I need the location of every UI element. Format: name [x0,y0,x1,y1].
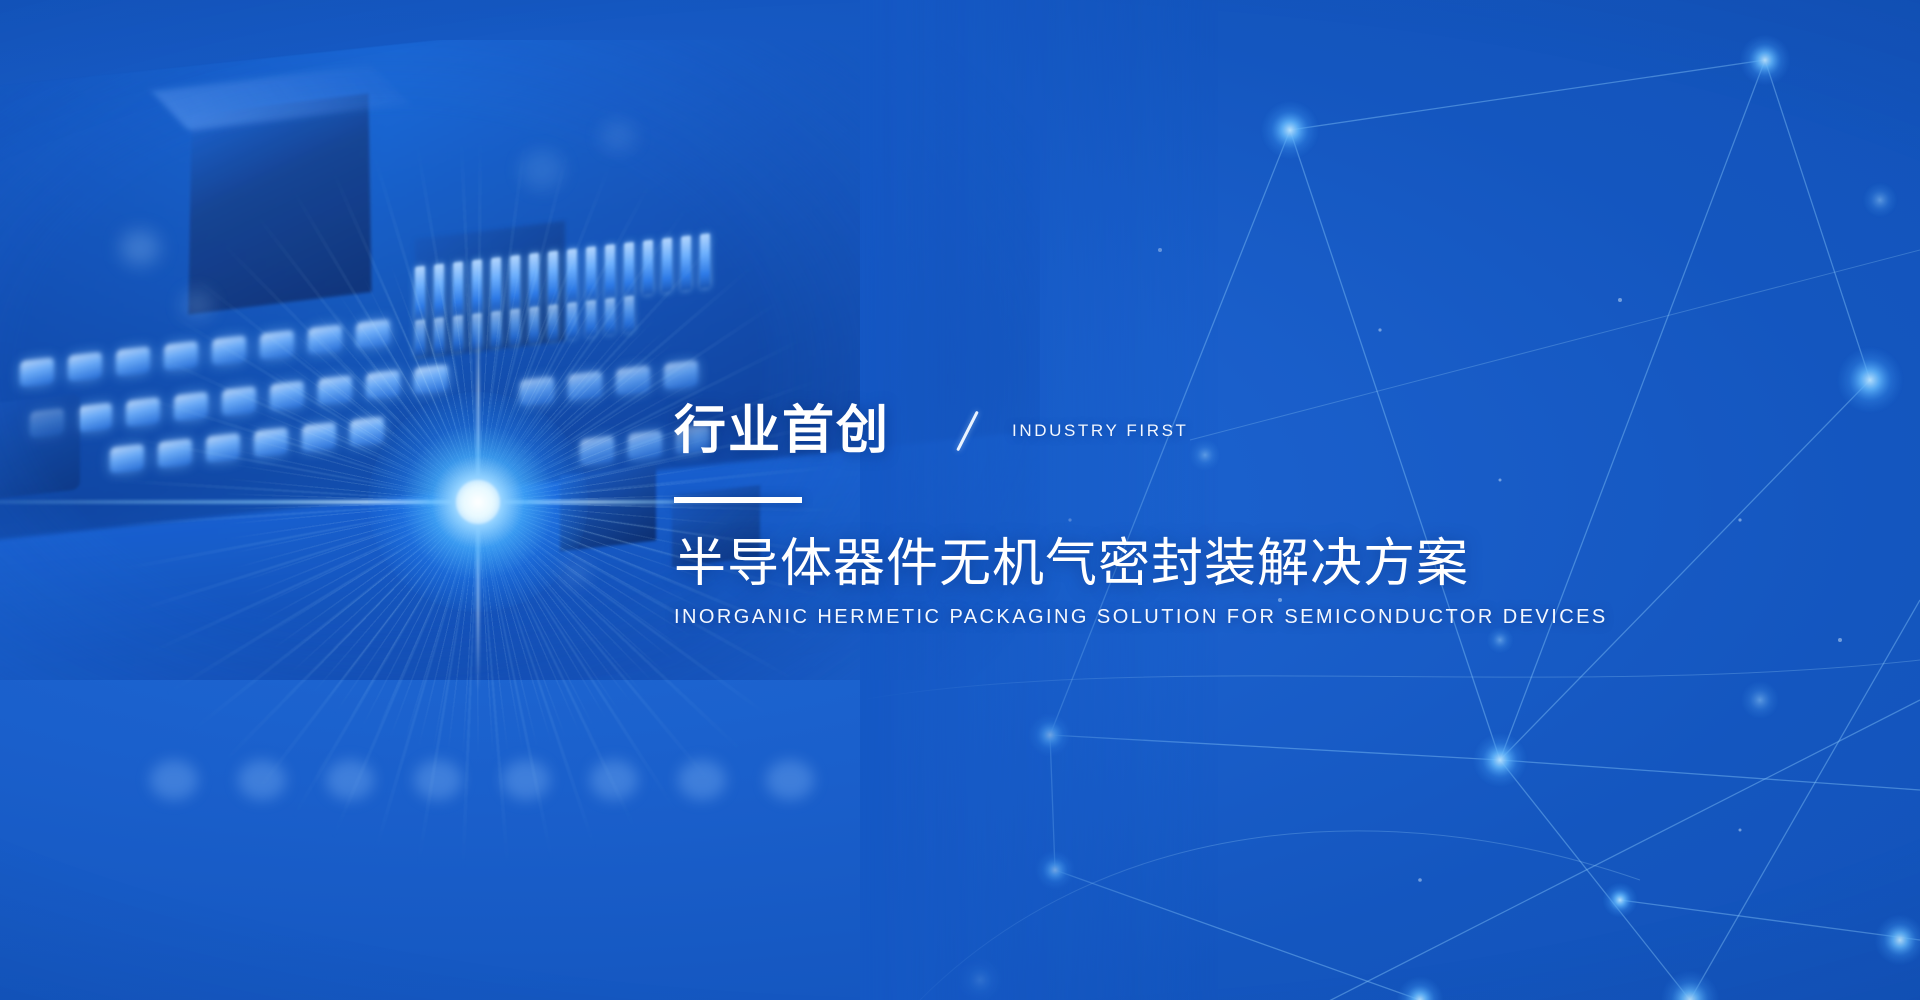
headline-chinese: 半导体器件无机气密封装解决方案 [674,536,1494,592]
eyebrow-chinese: 行业首创 [674,405,890,457]
subheadline-english: INORGANIC HERMETIC PACKAGING SOLUTION FO… [674,606,1494,629]
banner-copy: 行业首创 INDUSTRY FIRST 半导体器件无机气密封装解决方案 INOR… [674,400,1494,629]
hero-banner: 行业首创 INDUSTRY FIRST 半导体器件无机气密封装解决方案 INOR… [0,0,1920,1000]
title-underline-rule [674,497,802,503]
slash-divider-icon [952,411,986,451]
eyebrow-row: 行业首创 INDUSTRY FIRST [674,400,1494,462]
eyebrow-english: INDUSTRY FIRST [1012,421,1189,441]
